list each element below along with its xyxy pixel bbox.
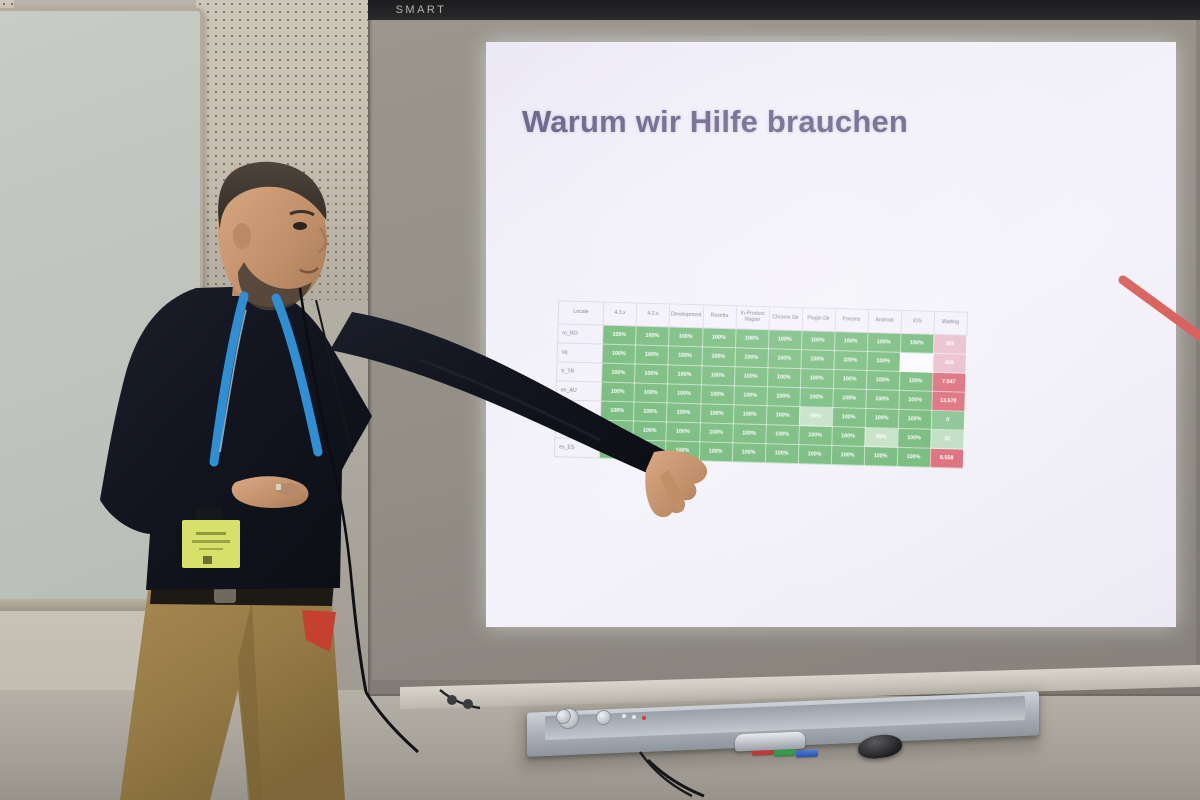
heatmap-cell: 100% bbox=[735, 329, 769, 349]
heatmap-cell: 100% bbox=[833, 370, 867, 390]
heatmap-cell: 100% bbox=[900, 333, 934, 353]
waiting-cell: 355 bbox=[933, 334, 967, 354]
heatmap-cell: 100% bbox=[633, 402, 667, 422]
heatmap-cell: 100% bbox=[798, 445, 832, 465]
heatmap-cell: 100% bbox=[701, 366, 735, 386]
pen-green[interactable] bbox=[774, 749, 796, 757]
col-locale: Locale bbox=[558, 301, 604, 325]
pen-blue[interactable] bbox=[796, 750, 818, 758]
heatmap-cell: 100% bbox=[733, 405, 767, 425]
heatmap-cell: 99% bbox=[799, 407, 833, 427]
heatmap-cell bbox=[899, 352, 933, 372]
heatmap-cell: 100% bbox=[603, 325, 637, 345]
heatmap-cell: 100% bbox=[864, 446, 898, 466]
heatmap-cell: 100% bbox=[632, 440, 666, 460]
smartboard-top-bar bbox=[368, 0, 1200, 20]
heatmap-cell: 100% bbox=[801, 331, 835, 351]
heatmap-cell: 100% bbox=[765, 425, 799, 445]
col-forums: Forums bbox=[835, 309, 869, 333]
photo-scene: SMART Warum wir Hilfe brauchen Locale 4.… bbox=[0, 0, 1200, 800]
heatmap-cell: 100% bbox=[668, 346, 702, 366]
heatmap-cell: 100% bbox=[831, 427, 865, 447]
heatmap-cell: 100% bbox=[636, 326, 670, 346]
heatmap-cell: 100% bbox=[897, 447, 931, 467]
waiting-cell: 32 bbox=[930, 429, 964, 449]
wall-whiteboard bbox=[0, 8, 203, 604]
col-plugin-dir: Plugin Dir bbox=[802, 308, 836, 332]
heatmap-cell: 100% bbox=[899, 371, 933, 391]
heatmap-cell: 100% bbox=[600, 401, 634, 421]
col-waiting: Waiting bbox=[934, 311, 968, 335]
col-chrome-dir: Chrome Dir bbox=[769, 307, 803, 331]
heatmap-cell: 100% bbox=[702, 328, 736, 348]
heatmap-cell: 100% bbox=[600, 420, 634, 440]
projected-slide: Warum wir Hilfe brauchen Locale 4.3.x 4.… bbox=[486, 42, 1176, 627]
heatmap-cell: 100% bbox=[765, 444, 799, 464]
heatmap-cell: 99% bbox=[864, 427, 898, 447]
smart-brand-logo: SMART bbox=[376, 2, 466, 18]
waiting-cell: 0 bbox=[931, 410, 965, 430]
heatmap-cell: 100% bbox=[834, 351, 868, 371]
locale-cell: tr_TR bbox=[557, 362, 603, 382]
heatmap-cell: 100% bbox=[834, 332, 868, 352]
heatmap-cell: 100% bbox=[666, 403, 700, 423]
heatmap-cell: 100% bbox=[700, 404, 734, 424]
heatmap-cell: 100% bbox=[732, 424, 766, 444]
heatmap-cell: 100% bbox=[602, 363, 636, 383]
heatmap-cell: 100% bbox=[767, 368, 801, 388]
heatmap-cell: 100% bbox=[865, 408, 899, 428]
heatmap-cell: 100% bbox=[734, 367, 768, 387]
locale-heatmap-table: Locale 4.3.x 4.2.x Development Rosetta I… bbox=[554, 300, 968, 468]
heatmap-cell: 100% bbox=[634, 364, 668, 384]
heatmap-cell: 100% bbox=[865, 389, 899, 409]
heatmap-cell: 100% bbox=[801, 350, 835, 370]
heatmap-cell: 100% bbox=[867, 351, 901, 371]
heatmap-cell: 100% bbox=[798, 426, 832, 446]
col-development: Development bbox=[669, 304, 703, 328]
heatmap-cell: 100% bbox=[699, 442, 733, 462]
acoustic-pegboard-panel bbox=[196, 0, 376, 300]
locale-cell: sq bbox=[557, 343, 603, 363]
declining-trend-arrow bbox=[972, 84, 1200, 669]
heatmap-cell: 100% bbox=[832, 408, 866, 428]
col-android: Android bbox=[868, 309, 902, 333]
heatmap-cell: 100% bbox=[602, 344, 636, 364]
slide-title: Warum wir Hilfe brauchen bbox=[522, 104, 908, 140]
heatmap-cell: 100% bbox=[667, 365, 701, 385]
locale-cell: en_AU bbox=[556, 381, 602, 401]
heatmap-cell: 100% bbox=[898, 390, 932, 410]
heatmap-cell: 100% bbox=[897, 428, 931, 448]
locale-cell: zh_CN bbox=[555, 400, 601, 420]
locale-cell: ro_RO bbox=[558, 324, 604, 344]
waiting-cell: 7.047 bbox=[932, 372, 966, 392]
heatmap-cell: 100% bbox=[734, 386, 768, 406]
heatmap-cell: 100% bbox=[898, 409, 932, 429]
heatmap-cell: 100% bbox=[831, 445, 865, 465]
heatmap-cell: 100% bbox=[768, 330, 802, 350]
heatmap-cell: 100% bbox=[701, 385, 735, 405]
heatmap-cell: 100% bbox=[766, 387, 800, 407]
col-ios: iOS bbox=[901, 310, 935, 334]
heatmap-cell: 100% bbox=[800, 369, 834, 389]
heatmap-cell: 100% bbox=[702, 347, 736, 367]
heatmap-cell: 100% bbox=[599, 439, 633, 459]
locale-cell: es_ES bbox=[554, 438, 600, 458]
heatmap-cell: 100% bbox=[832, 389, 866, 409]
heatmap-cell: 100% bbox=[634, 383, 668, 403]
board-eraser[interactable] bbox=[735, 732, 805, 752]
heatmap-cell: 100% bbox=[665, 441, 699, 461]
heatmap-cell: 100% bbox=[633, 421, 667, 441]
heatmap-cell: 100% bbox=[635, 345, 669, 365]
heatmap-cell: 100% bbox=[735, 348, 769, 368]
waiting-cell: 13.678 bbox=[931, 391, 965, 411]
heatmap-cell: 100% bbox=[867, 332, 901, 352]
col-43x: 4.3.x bbox=[603, 302, 637, 326]
heatmap-cell: 100% bbox=[766, 406, 800, 426]
heatmap-cell: 100% bbox=[866, 370, 900, 390]
heatmap-cell: 100% bbox=[666, 422, 700, 442]
heatmap-cell: 100% bbox=[732, 443, 766, 463]
heatmap-cell: 100% bbox=[768, 349, 802, 369]
locale-cell: pt_BR bbox=[555, 419, 601, 439]
waiting-cell: 458 bbox=[932, 353, 966, 373]
col-42x: 4.2.x bbox=[636, 303, 670, 327]
heatmap-cell: 100% bbox=[799, 388, 833, 408]
heatmap-body: ro_RO100%100%100%100%100%100%100%100%100… bbox=[554, 324, 966, 468]
col-rosetta: Rosetta bbox=[703, 305, 737, 329]
heatmap-cell: 100% bbox=[667, 384, 701, 404]
waiting-cell: 8.558 bbox=[930, 448, 964, 468]
col-inproduct: In-Product Nagari bbox=[736, 306, 770, 330]
heatmap-cell: 100% bbox=[669, 327, 703, 347]
heatmap-cell: 100% bbox=[601, 382, 635, 402]
heatmap-cell: 100% bbox=[699, 423, 733, 443]
